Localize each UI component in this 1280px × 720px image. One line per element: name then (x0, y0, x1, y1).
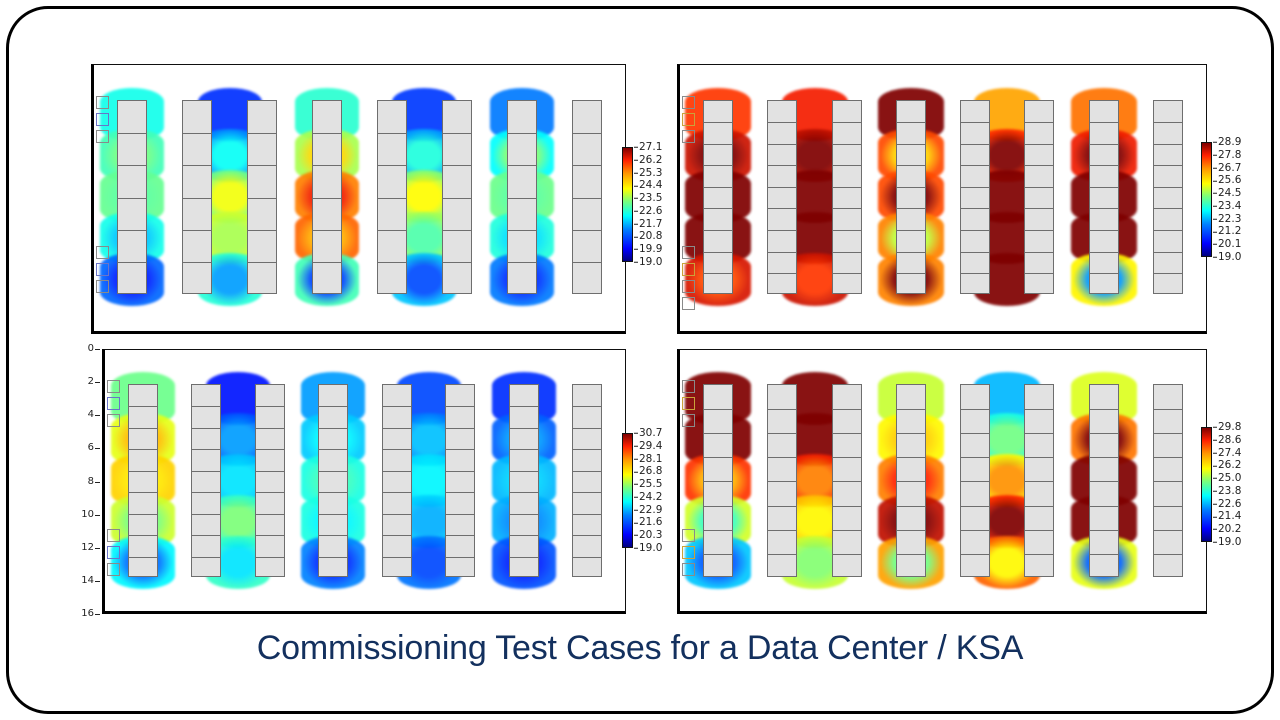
sensor-marker (682, 414, 695, 427)
rack-unit-divider (192, 406, 220, 407)
rack-unit-divider (897, 554, 925, 555)
chart-panel-top-left: 27.126.225.324.423.522.621.720.819.919.0 (91, 64, 626, 334)
rack-unit-divider (183, 165, 211, 166)
rack-unit-divider (383, 471, 411, 472)
rack-unit-divider (1154, 433, 1182, 434)
rack-unit-divider (1090, 433, 1118, 434)
sensor-marker (682, 397, 695, 410)
plot-axes-bottom-left (102, 349, 626, 614)
rack-unit-divider (961, 122, 989, 123)
rack-unit-divider (1090, 187, 1118, 188)
rack-unit-divider (248, 198, 276, 199)
rack-unit-divider (248, 262, 276, 263)
rack-unit-divider (704, 122, 732, 123)
y-axis-ticks-bottom-left: 0246810121416 (72, 349, 96, 614)
sensor-marker (96, 246, 109, 259)
rack-unit-divider (446, 492, 474, 493)
rack-unit-divider (1090, 506, 1118, 507)
plot-area-top-right (680, 65, 1206, 331)
rack-unit-divider (183, 133, 211, 134)
rack-unit-divider (192, 514, 220, 515)
rack-unit-divider (897, 433, 925, 434)
colorbar-tick-label: 28.6 (1218, 435, 1241, 446)
rack-unit-divider (192, 535, 220, 536)
colorbar-tick-label: 22.9 (639, 504, 662, 515)
rack-unit-divider (897, 457, 925, 458)
sensor-marker (682, 130, 695, 143)
rack-unit-divider (573, 133, 601, 134)
rack-unit-divider (1025, 506, 1053, 507)
rack-unit-divider (192, 428, 220, 429)
y-axis-tick-label: 16 (72, 609, 94, 619)
rack-unit-divider (897, 481, 925, 482)
rack-unit-divider (508, 165, 536, 166)
rack-unit-divider (1025, 409, 1053, 410)
rack-unit-divider (704, 409, 732, 410)
rack-unit-divider (1154, 252, 1182, 253)
rack-unit-divider (1090, 165, 1118, 166)
rack-unit-divider (319, 428, 347, 429)
colorbar-tick-label: 29.8 (1218, 422, 1241, 433)
rack-unit-divider (192, 471, 220, 472)
rack-unit-divider (833, 481, 861, 482)
sensor-marker (107, 546, 120, 559)
rack-unit-divider (383, 428, 411, 429)
rack-unit-divider (183, 262, 211, 263)
rack-unit-divider (1090, 208, 1118, 209)
y-axis-tick-label: 14 (72, 576, 94, 586)
rack-unit-divider (961, 144, 989, 145)
rack-unit-divider (446, 514, 474, 515)
rack-unit-divider (129, 449, 157, 450)
rack-unit-divider (704, 187, 732, 188)
rack-unit-divider (768, 273, 796, 274)
rack-unit-divider (573, 406, 601, 407)
server-rack-column (767, 384, 797, 577)
rack-unit-divider (1154, 208, 1182, 209)
rack-unit-divider (256, 428, 284, 429)
rack-unit-divider (319, 471, 347, 472)
x-axis-tick-label (853, 340, 879, 344)
server-rack-column (442, 100, 472, 294)
rack-unit-divider (319, 514, 347, 515)
rack-unit-divider (573, 198, 601, 199)
rack-unit-divider (704, 230, 732, 231)
rack-unit-divider (443, 230, 471, 231)
rack-unit-divider (1154, 273, 1182, 274)
rack-unit-divider (768, 530, 796, 531)
rack-unit-divider (704, 252, 732, 253)
sensor-marker (682, 297, 695, 310)
rack-unit-divider (129, 406, 157, 407)
rack-unit-divider (573, 230, 601, 231)
rack-unit-divider (1090, 481, 1118, 482)
server-rack-column (128, 384, 158, 577)
rack-unit-divider (704, 554, 732, 555)
colorbar-gradient-bottom-right (1201, 427, 1212, 542)
colorbar-tick-label: 19.0 (1218, 252, 1241, 263)
rack-unit-divider (446, 535, 474, 536)
server-rack-column (445, 384, 475, 577)
sensor-marker (96, 280, 109, 293)
rack-unit-divider (446, 428, 474, 429)
rack-unit-divider (1154, 530, 1182, 531)
rack-unit-divider (833, 554, 861, 555)
x-axis-tick-label (929, 340, 955, 344)
rack-unit-divider (446, 471, 474, 472)
slide-frame: 27.126.225.324.423.522.621.720.819.919.0… (6, 6, 1274, 714)
rack-unit-divider (573, 449, 601, 450)
rack-unit-divider (313, 165, 341, 166)
rack-unit-divider (573, 165, 601, 166)
rack-unit-divider (508, 133, 536, 134)
rack-unit-divider (508, 198, 536, 199)
sensor-marker (682, 96, 695, 109)
colorbar-tick-label: 27.1 (639, 142, 662, 153)
rack-unit-divider (383, 449, 411, 450)
rack-unit-divider (961, 187, 989, 188)
rack-unit-divider (510, 514, 538, 515)
rack-unit-divider (383, 406, 411, 407)
rack-unit-divider (1090, 554, 1118, 555)
colorbar-ticks-top-left: 27.126.225.324.423.522.621.720.819.919.0 (636, 147, 682, 262)
rack-unit-divider (118, 165, 146, 166)
rack-unit-divider (961, 165, 989, 166)
plot-axes-top-right (677, 64, 1207, 334)
rack-unit-divider (383, 535, 411, 536)
server-rack-column (1089, 384, 1119, 577)
rack-unit-divider (378, 165, 406, 166)
sensor-marker (96, 263, 109, 276)
server-rack-column (832, 384, 862, 577)
colorbar-tick-label: 25.3 (639, 167, 662, 178)
rack-unit-divider (1154, 187, 1182, 188)
y-axis-tick-label: 12 (72, 543, 94, 553)
rack-unit-divider (961, 481, 989, 482)
rack-unit-divider (704, 481, 732, 482)
colorbar-ticks-bottom-right: 29.828.627.426.225.023.822.621.420.219.0 (1215, 427, 1261, 542)
rack-unit-divider (768, 187, 796, 188)
rack-unit-divider (129, 557, 157, 558)
rack-unit-divider (256, 535, 284, 536)
plot-area-bottom-left (105, 350, 625, 611)
rack-unit-divider (1090, 409, 1118, 410)
rack-unit-divider (1154, 165, 1182, 166)
rack-unit-divider (510, 535, 538, 536)
rack-unit-divider (510, 557, 538, 558)
colorbar-tick-label: 22.3 (1218, 213, 1241, 224)
rack-unit-divider (961, 530, 989, 531)
rack-unit-divider (768, 122, 796, 123)
rack-unit-divider (573, 492, 601, 493)
rack-unit-divider (833, 208, 861, 209)
rack-unit-divider (897, 409, 925, 410)
colorbar-tick-label: 24.5 (1218, 188, 1241, 199)
colorbar-tick-label: 27.8 (1218, 150, 1241, 161)
colorbar-tick-label: 28.9 (1218, 137, 1241, 148)
rack-unit-divider (704, 165, 732, 166)
sensor-marker (682, 246, 695, 259)
rack-unit-divider (1154, 457, 1182, 458)
colorbar-tick-label: 24.4 (639, 180, 662, 191)
sensor-marker (96, 130, 109, 143)
server-rack-column (572, 384, 602, 577)
rack-unit-divider (573, 471, 601, 472)
rack-unit-divider (443, 262, 471, 263)
colorbar-tick-label: 24.2 (639, 492, 662, 503)
rack-unit-divider (1025, 230, 1053, 231)
colorbar-tick-label: 20.3 (639, 530, 662, 541)
rack-unit-divider (1025, 252, 1053, 253)
colorbar-tick-label: 26.7 (1218, 162, 1241, 173)
rack-unit-divider (768, 506, 796, 507)
server-rack-column (960, 384, 990, 577)
rack-unit-divider (319, 492, 347, 493)
rack-unit-divider (1025, 165, 1053, 166)
colorbar-tick-label: 22.6 (639, 206, 662, 217)
rack-unit-divider (446, 557, 474, 558)
rack-unit-divider (510, 471, 538, 472)
x-axis-tick-label (730, 620, 756, 624)
colorbar-tick-label: 19.0 (639, 257, 662, 268)
rack-unit-divider (383, 514, 411, 515)
rack-unit-divider (1025, 433, 1053, 434)
rack-unit-divider (313, 198, 341, 199)
colorbar-tick-label: 21.2 (1218, 226, 1241, 237)
sensor-marker (682, 563, 695, 576)
rack-unit-divider (443, 165, 471, 166)
colorbar-tick-label: 20.1 (1218, 239, 1241, 250)
x-axis-tick-label (1005, 340, 1031, 344)
rack-unit-divider (446, 449, 474, 450)
rack-unit-divider (1154, 506, 1182, 507)
server-rack-column (896, 100, 926, 294)
rack-unit-divider (833, 433, 861, 434)
rack-unit-divider (1025, 144, 1053, 145)
rack-unit-divider (961, 506, 989, 507)
rack-unit-divider (1154, 230, 1182, 231)
sensor-marker (682, 546, 695, 559)
rack-unit-divider (1154, 409, 1182, 410)
rack-unit-divider (897, 273, 925, 274)
rack-unit-divider (961, 409, 989, 410)
rack-unit-divider (1025, 530, 1053, 531)
rack-unit-divider (768, 433, 796, 434)
rack-unit-divider (833, 273, 861, 274)
rack-unit-divider (313, 230, 341, 231)
sensor-marker (107, 563, 120, 576)
rack-unit-divider (897, 187, 925, 188)
rack-unit-divider (1154, 122, 1182, 123)
x-axis-ticks-bottom-right (677, 616, 1207, 624)
rack-unit-divider (833, 230, 861, 231)
sensor-marker (682, 263, 695, 276)
rack-unit-divider (768, 252, 796, 253)
rack-unit-divider (129, 535, 157, 536)
rack-unit-divider (129, 514, 157, 515)
sensor-marker (682, 529, 695, 542)
rack-unit-divider (248, 230, 276, 231)
rack-unit-divider (319, 449, 347, 450)
rack-unit-divider (897, 530, 925, 531)
server-rack-column (507, 100, 537, 294)
colorbar-tick-label: 21.6 (639, 517, 662, 528)
colorbar-top-right: 28.927.826.725.624.523.422.321.220.119.0 (1201, 142, 1261, 257)
rack-unit-divider (897, 122, 925, 123)
rack-unit-divider (256, 406, 284, 407)
y-axis-tick-label: 4 (72, 410, 94, 420)
rack-unit-divider (1090, 273, 1118, 274)
server-rack-column (767, 100, 797, 294)
rack-unit-divider (573, 428, 601, 429)
rack-unit-divider (1090, 144, 1118, 145)
rack-unit-divider (183, 198, 211, 199)
rack-unit-divider (573, 535, 601, 536)
rack-unit-divider (378, 133, 406, 134)
rack-unit-divider (118, 230, 146, 231)
rack-unit-divider (897, 506, 925, 507)
sensor-marker (682, 113, 695, 126)
rack-unit-divider (833, 252, 861, 253)
rack-unit-divider (192, 557, 220, 558)
colorbar-tick-label: 26.2 (1218, 460, 1241, 471)
rack-unit-divider (319, 535, 347, 536)
rack-unit-divider (256, 449, 284, 450)
y-axis-tick-label: 8 (72, 477, 94, 487)
rack-unit-divider (443, 198, 471, 199)
chart-panel-bottom-right: 29.828.627.426.225.023.822.621.420.219.0 (677, 349, 1207, 614)
rack-unit-divider (768, 144, 796, 145)
x-axis-tick-label (863, 620, 889, 624)
server-rack-column (382, 384, 412, 577)
colorbar-tick-label: 22.6 (1218, 498, 1241, 509)
rack-unit-divider (833, 122, 861, 123)
sensor-marker (107, 414, 120, 427)
rack-unit-divider (704, 457, 732, 458)
server-rack-column (960, 100, 990, 294)
server-rack-column (1089, 100, 1119, 294)
rack-unit-divider (704, 144, 732, 145)
rack-unit-divider (510, 428, 538, 429)
plot-area-top-left (94, 65, 625, 331)
server-rack-column (318, 384, 348, 577)
rack-unit-divider (248, 133, 276, 134)
rack-unit-divider (1154, 481, 1182, 482)
rack-unit-divider (313, 133, 341, 134)
colorbar-tick-label: 19.9 (639, 244, 662, 255)
x-axis-tick-label (995, 620, 1021, 624)
sensor-marker (107, 380, 120, 393)
chart-panel-top-right: 28.927.826.725.624.523.422.321.220.119.0 (677, 64, 1207, 334)
rack-unit-divider (573, 262, 601, 263)
rack-unit-divider (129, 492, 157, 493)
rack-unit-divider (1025, 187, 1053, 188)
colorbar-gradient-top-right (1201, 142, 1212, 257)
rack-unit-divider (378, 230, 406, 231)
server-rack-column (117, 100, 147, 294)
rack-unit-divider (192, 449, 220, 450)
server-rack-column (572, 100, 602, 294)
rack-unit-divider (704, 273, 732, 274)
server-rack-column (1024, 384, 1054, 577)
rack-unit-divider (118, 133, 146, 134)
rack-unit-divider (768, 409, 796, 410)
colorbar-ticks-top-right: 28.927.826.725.624.523.422.321.220.119.0 (1215, 142, 1261, 257)
colorbar-tick-label: 23.5 (639, 193, 662, 204)
rack-unit-divider (118, 262, 146, 263)
colorbar-tick-label: 25.6 (1218, 175, 1241, 186)
colorbar-tick-label: 19.0 (639, 543, 662, 554)
sensor-marker (107, 397, 120, 410)
colorbar-tick-label: 25.5 (639, 479, 662, 490)
rack-unit-divider (1090, 530, 1118, 531)
colorbar-tick-label: 20.2 (1218, 524, 1241, 535)
x-axis-tick-label (1128, 620, 1154, 624)
rack-unit-divider (704, 530, 732, 531)
rack-unit-divider (768, 457, 796, 458)
server-rack-column (1024, 100, 1054, 294)
rack-unit-divider (961, 457, 989, 458)
sensor-marker (96, 113, 109, 126)
rack-unit-divider (1025, 457, 1053, 458)
rack-unit-divider (383, 492, 411, 493)
server-rack-column (703, 384, 733, 577)
rack-unit-divider (768, 554, 796, 555)
rack-unit-divider (1090, 230, 1118, 231)
rack-unit-divider (1090, 122, 1118, 123)
rack-unit-divider (510, 406, 538, 407)
rack-unit-divider (897, 230, 925, 231)
rack-unit-divider (129, 471, 157, 472)
colorbar-bottom-left: 30.729.428.126.825.524.222.921.620.319.0 (622, 433, 682, 548)
rack-unit-divider (768, 481, 796, 482)
rack-unit-divider (1025, 554, 1053, 555)
colorbar-bottom-right: 29.828.627.426.225.023.822.621.420.219.0 (1201, 427, 1261, 542)
rack-unit-divider (443, 133, 471, 134)
rack-unit-divider (378, 198, 406, 199)
colorbar-tick-label: 28.1 (639, 453, 662, 464)
rack-unit-divider (833, 530, 861, 531)
rack-unit-divider (1090, 252, 1118, 253)
colorbar-tick-label: 23.8 (1218, 486, 1241, 497)
rack-unit-divider (704, 506, 732, 507)
rack-unit-divider (1025, 273, 1053, 274)
rack-unit-divider (833, 506, 861, 507)
x-axis-ticks-top-right (677, 336, 1207, 344)
rack-unit-divider (1025, 122, 1053, 123)
y-axis-tick-label: 2 (72, 377, 94, 387)
rack-unit-divider (573, 514, 601, 515)
colorbar-tick-label: 21.4 (1218, 511, 1241, 522)
colorbar-tick-label: 30.7 (639, 428, 662, 439)
colorbar-tick-label: 20.8 (639, 231, 662, 242)
rack-unit-divider (319, 557, 347, 558)
rack-unit-divider (961, 230, 989, 231)
rack-unit-divider (961, 433, 989, 434)
rack-unit-divider (446, 406, 474, 407)
server-rack-column (377, 100, 407, 294)
server-rack-column (896, 384, 926, 577)
colorbar-tick-label: 29.4 (639, 441, 662, 452)
server-rack-column (509, 384, 539, 577)
plot-axes-bottom-right (677, 349, 1207, 614)
rack-unit-divider (192, 492, 220, 493)
rack-unit-divider (833, 457, 861, 458)
rack-unit-divider (704, 433, 732, 434)
colorbar-tick-label: 26.2 (639, 155, 662, 166)
x-axis-tick-label (702, 340, 728, 344)
rack-unit-divider (510, 449, 538, 450)
